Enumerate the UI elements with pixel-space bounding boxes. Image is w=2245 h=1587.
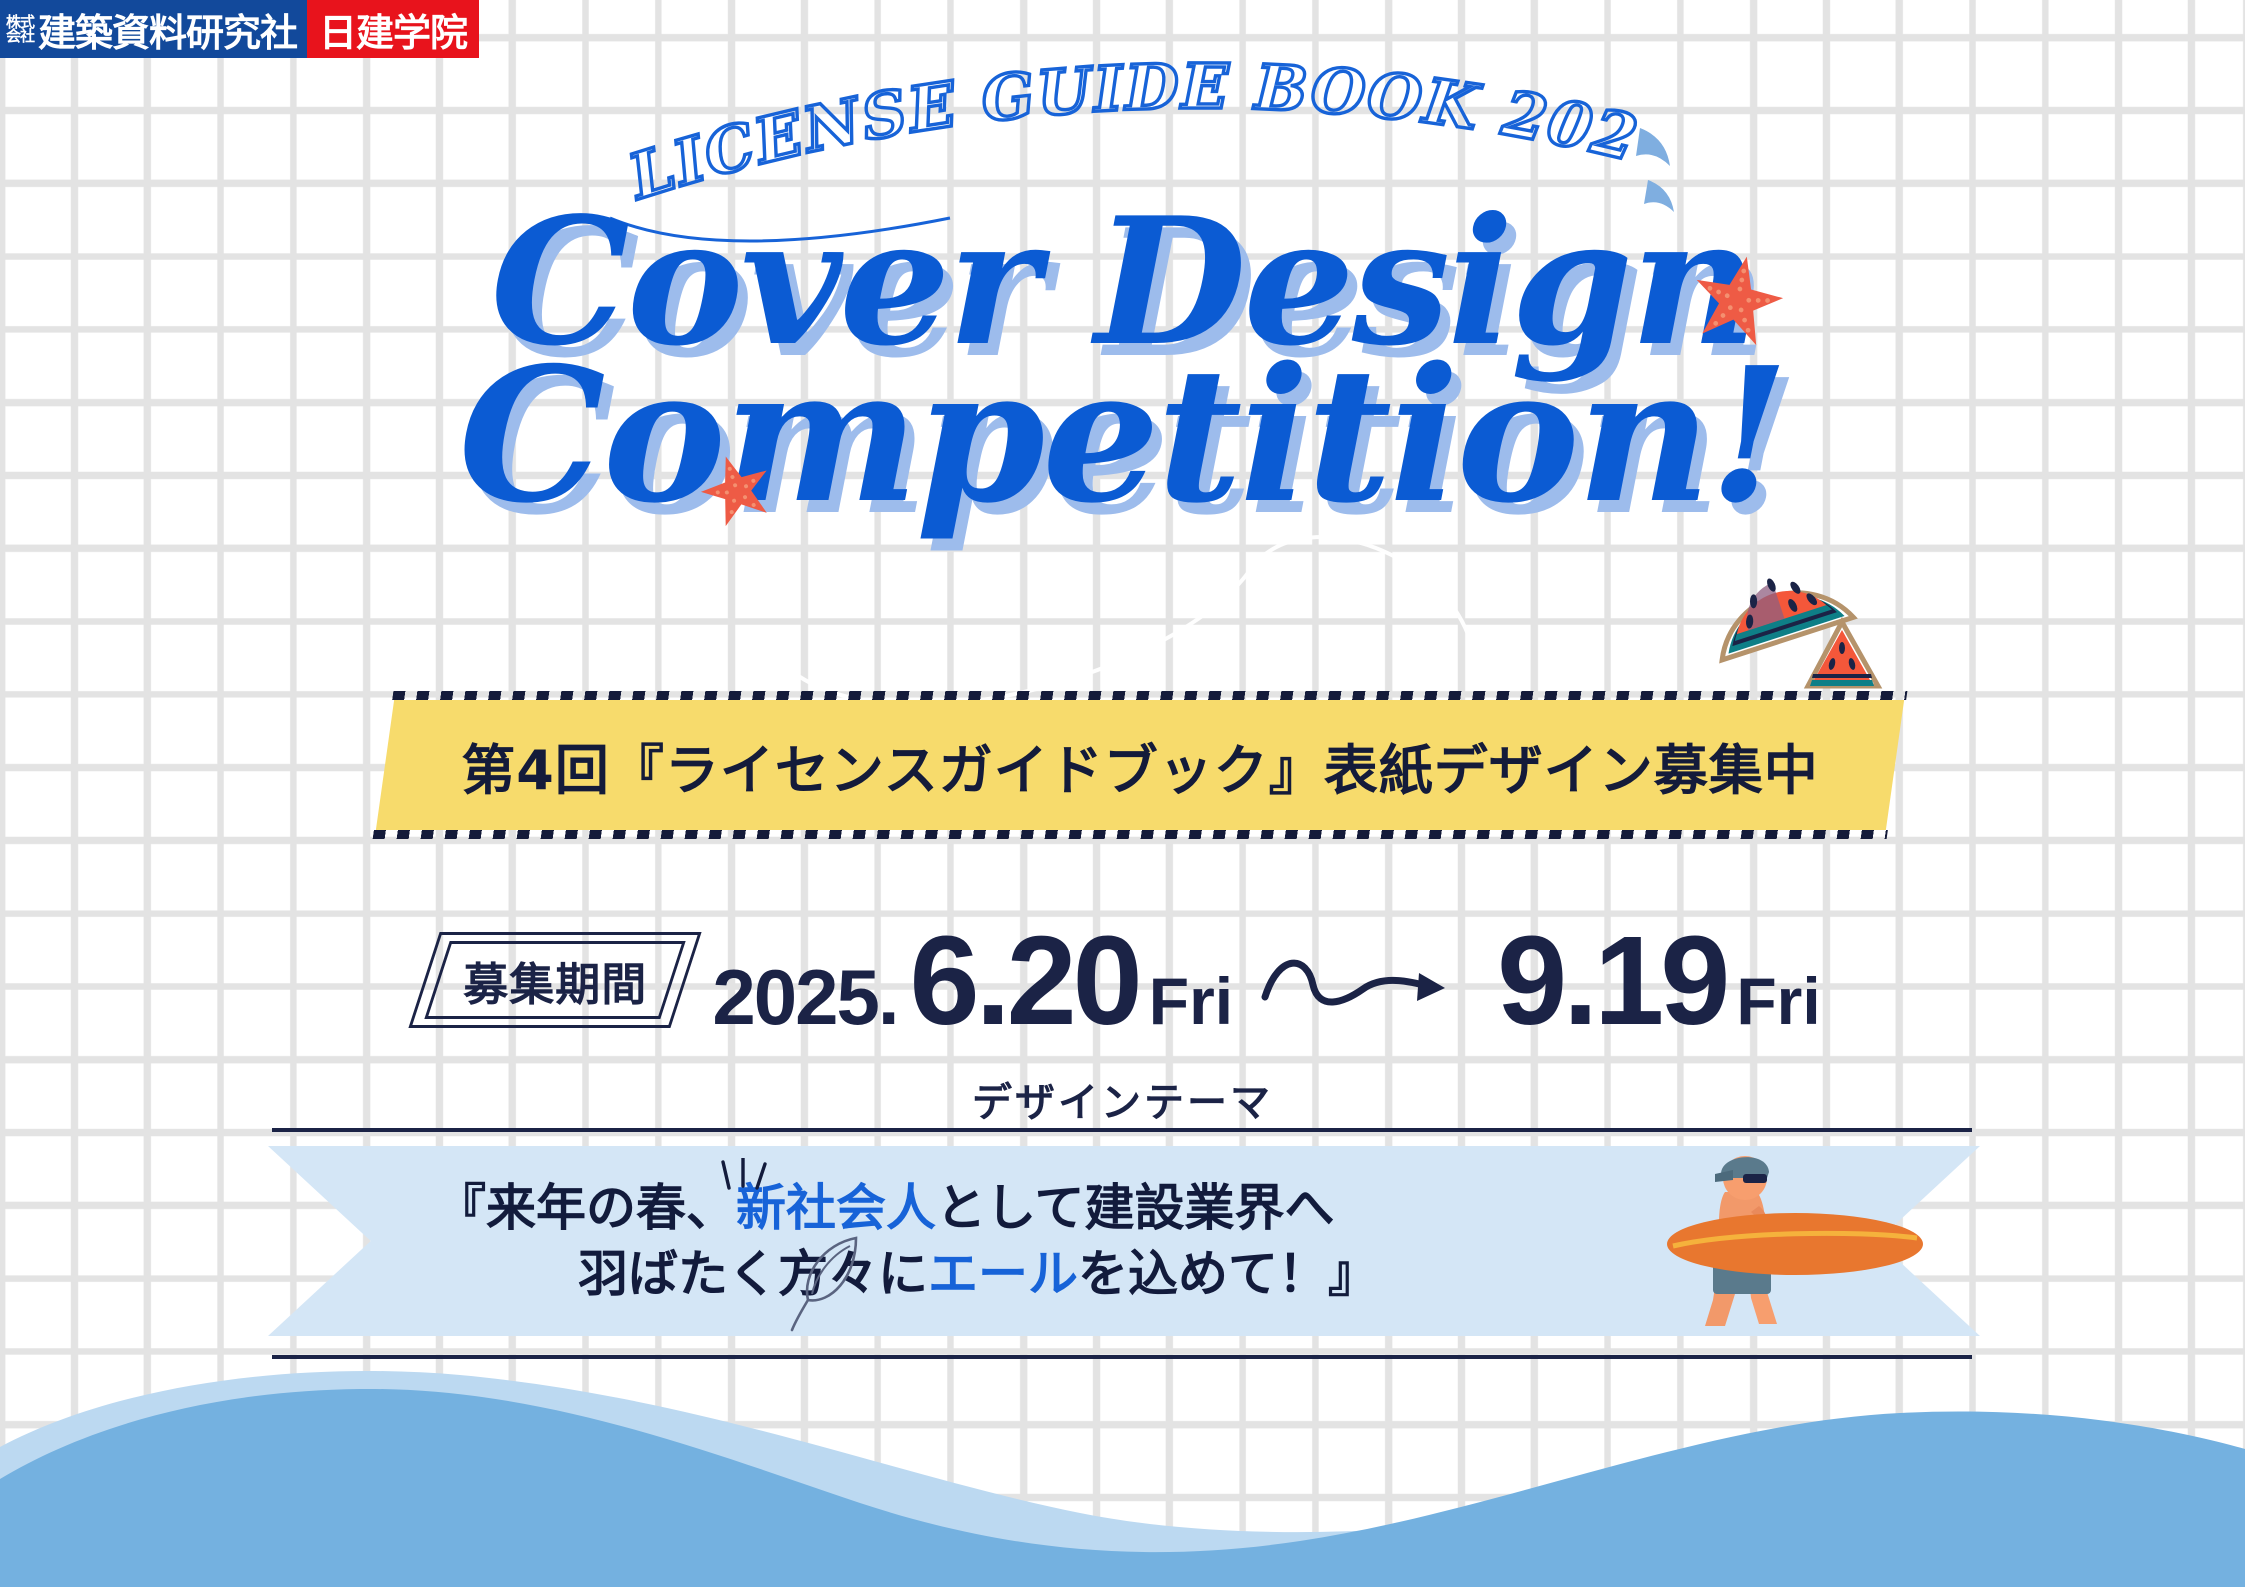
logo-school-name: 日建学院 [319,2,467,57]
theme-line1-part1: 『来年の春、 [436,1179,736,1237]
logo-company-name: 建築資料研究社 [38,2,297,57]
title-line-2: Competition! [0,348,2245,524]
logo-school-block: 日建学院 [307,0,479,58]
period-start-year: 2025. [712,952,897,1043]
logo-company-block: 株式 会社 建築資料研究社 [0,0,307,58]
subtitle-banner-text: 第4回『ライセンスガイドブック』表紙デザイン募集中 [385,700,1895,830]
theme-line1-part2: として建設業界へ [936,1179,1335,1237]
company-logo: 株式 会社 建築資料研究社 日建学院 [0,0,479,58]
theme-rule-top [272,1128,1972,1132]
wavy-arrow-icon [1259,945,1459,1015]
wave-primary [0,1389,2245,1587]
quill-feather-icon [790,1232,868,1332]
theme-line2-part1: 羽ばたく方々に [578,1245,928,1303]
theme-line2-part2: を込めて！』 [1078,1245,1378,1303]
starfish-icon [1683,243,1792,352]
period-end-date: 9.19 Fri [1485,908,1821,1053]
logo-corporate-prefix: 株式 会社 [6,15,34,44]
period-end-day: 9.19 [1497,908,1726,1053]
theme-line2-highlight: エール [928,1245,1078,1303]
design-theme-heading: デザインテーマ [0,1070,2245,1128]
logo-prefix-line2: 会社 [6,29,34,43]
period-badge: 募集期間 [424,932,686,1028]
period-start-date: 2025. 6.20 Fri [712,908,1233,1053]
surfer-icon [1655,1140,1930,1340]
period-start-day: 6.20 [910,908,1139,1053]
period-badge-label: 募集期間 [463,948,647,1013]
subtitle-banner: 第4回『ライセンスガイドブック』表紙デザイン募集中 [385,700,1895,830]
sparkle-icon [715,1158,775,1206]
main-title: Cover Design Competition! [0,200,2245,524]
bottom-waves [0,1327,2245,1587]
watermelon-icon [1700,548,1900,708]
theme-rule-bottom [272,1355,1972,1359]
application-period-row: 募集期間 2025. 6.20 Fri 9.19 Fri [0,905,2245,1055]
period-end-weekday: Fri [1736,963,1820,1039]
period-start-weekday: Fri [1149,963,1233,1039]
